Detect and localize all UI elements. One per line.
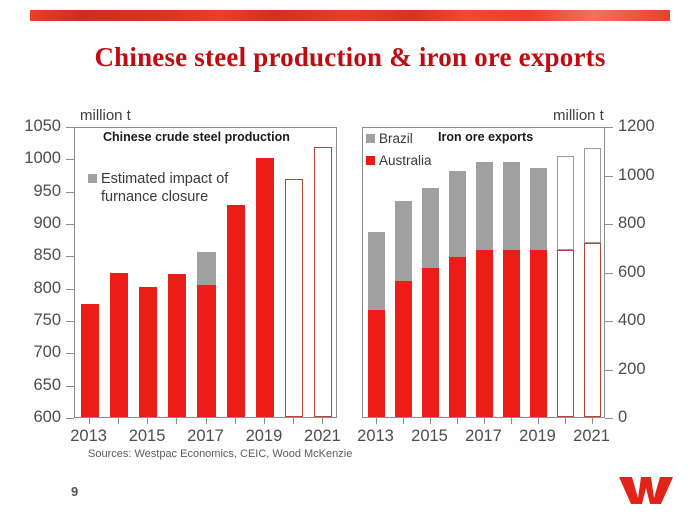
bar-steel-2018 [227,205,245,417]
xtick-label-steel-2019: 2019 [246,427,283,446]
bar-ore-2015 [422,188,439,417]
bar-ore-2018 [503,162,520,417]
ytick-label-ore-1200: 1200 [618,118,655,135]
ytick-mark-steel-1050 [66,127,74,128]
xtick-mark-ore-2019 [538,418,539,424]
bar-segment-australia-2019 [530,250,547,417]
bar-segment-brazil-2015 [422,188,439,268]
sources-note: Sources: Westpac Economics, CEIC, Wood M… [88,448,352,460]
left-chart-title: Chinese crude steel production [103,130,290,144]
page-number: 9 [71,484,78,499]
ytick-mark-steel-800 [66,289,74,290]
left-chart-legend: Estimated impact of furnance closure [88,170,228,206]
bar-steel-2015 [139,287,157,417]
xtick-mark-ore-2015 [430,418,431,424]
bar-segment-furnace-impact-2017 [197,252,215,285]
xtick-label-steel-2021: 2021 [304,427,341,446]
bar-steel-2016 [168,274,186,417]
ytick-mark-steel-1000 [66,159,74,160]
bar-segment-australia-2014 [395,281,412,417]
ytick-label-ore-1000: 1000 [618,167,655,184]
xtick-label-ore-2013: 2013 [357,427,394,446]
xtick-label-ore-2017: 2017 [465,427,502,446]
xtick-mark-steel-2017 [206,418,207,424]
legend-swatch-brazil-icon [366,134,375,143]
bar-segment-brazil-2017 [476,162,493,249]
ytick-label-steel-700: 700 [0,344,61,361]
xtick-mark-ore-2013 [376,418,377,424]
ytick-mark-ore-1200 [605,127,613,128]
bar-segment-australia-2016 [449,257,466,417]
ytick-mark-steel-900 [66,224,74,225]
ytick-label-steel-850: 850 [0,247,61,264]
bar-segment-australia-2017 [476,250,493,417]
ytick-mark-steel-750 [66,321,74,322]
ytick-mark-steel-700 [66,353,74,354]
legend-label-australia: Australia [379,153,432,168]
bar-segment-australia-2020 [557,250,574,417]
right-chart-legend-australia: Australia [366,153,432,168]
xtick-label-ore-2015: 2015 [411,427,448,446]
bar-ore-2013 [368,232,385,418]
ytick-label-steel-650: 650 [0,377,61,394]
xtick-mark-ore-2014 [403,418,404,424]
bar-segment-production-2013 [81,304,99,417]
bar-segment-brazil-2018 [503,162,520,250]
ytick-label-ore-400: 400 [618,312,646,329]
bar-steel-2017 [197,252,215,417]
bar-steel-2019 [256,158,274,417]
xtick-mark-steel-2013 [89,418,90,424]
bar-ore-2019 [530,168,547,417]
ytick-mark-ore-600 [605,273,613,274]
legend-label-brazil: Brazil [379,131,413,146]
ytick-label-steel-900: 900 [0,215,61,232]
bar-ore-2020 [557,156,574,417]
bar-segment-australia-2015 [422,268,439,417]
ytick-label-steel-750: 750 [0,312,61,329]
bar-segment-production-2016 [168,274,186,417]
bar-segment-production-2019 [256,158,274,417]
bar-ore-2021 [584,148,601,417]
ytick-mark-ore-800 [605,224,613,225]
ytick-label-ore-600: 600 [618,264,646,281]
bar-segment-australia-2021 [584,243,601,417]
xtick-mark-steel-2021 [322,418,323,424]
bar-steel-2014 [110,273,128,417]
xtick-mark-ore-2021 [592,418,593,424]
legend-label-estimated-impact-line1: Estimated impact of [101,171,228,187]
legend-swatch-gray-icon [88,174,97,183]
bar-segment-brazil-2016 [449,171,466,257]
bar-steel-2021 [314,147,332,417]
ytick-mark-ore-0 [605,418,613,419]
right-chart-legend-brazil: Brazil [366,131,413,146]
xtick-mark-ore-2020 [565,418,566,424]
ytick-mark-steel-650 [66,386,74,387]
bar-segment-brazil-2013 [368,232,385,311]
bar-segment-brazil-2020 [557,156,574,249]
xtick-label-steel-2013: 2013 [70,427,107,446]
bar-segment-production-2015 [139,287,157,417]
ytick-mark-ore-200 [605,370,613,371]
ytick-mark-steel-850 [66,256,74,257]
xtick-mark-steel-2018 [235,418,236,424]
ytick-label-ore-800: 800 [618,215,646,232]
bar-ore-2014 [395,201,412,417]
xtick-mark-steel-2016 [176,418,177,424]
xtick-mark-ore-2018 [511,418,512,424]
xtick-mark-steel-2020 [293,418,294,424]
ytick-label-steel-950: 950 [0,183,61,200]
left-chart-units-label: million t [80,107,131,124]
ytick-label-ore-0: 0 [618,409,627,426]
westpac-w-logo [617,473,675,507]
ytick-label-steel-1050: 1050 [0,118,61,135]
xtick-label-steel-2015: 2015 [129,427,166,446]
xtick-label-ore-2019: 2019 [519,427,556,446]
ytick-label-steel-800: 800 [0,280,61,297]
ytick-mark-steel-600 [66,418,74,419]
xtick-label-steel-2017: 2017 [187,427,224,446]
ytick-label-steel-1000: 1000 [0,150,61,167]
xtick-mark-steel-2014 [118,418,119,424]
bar-segment-production-2018 [227,205,245,417]
decorative-top-stripe [30,10,670,21]
ytick-label-steel-600: 600 [0,409,61,426]
legend-swatch-australia-icon [366,156,375,165]
bar-segment-australia-2018 [503,250,520,417]
chart-iron-ore-exports: Iron ore exports [362,127,605,418]
xtick-mark-steel-2019 [264,418,265,424]
xtick-mark-ore-2016 [457,418,458,424]
xtick-mark-ore-2017 [484,418,485,424]
ytick-mark-ore-400 [605,321,613,322]
right-chart-units-label: million t [553,107,604,124]
bar-steel-2020 [285,179,303,417]
bar-segment-production-2017 [197,285,215,417]
bar-segment-production-2020 [285,179,303,417]
ytick-mark-steel-950 [66,192,74,193]
xtick-label-ore-2021: 2021 [573,427,610,446]
bar-segment-production-2021 [314,147,332,417]
slide-canvas: Chinese steel production & iron ore expo… [0,0,700,525]
bar-segment-brazil-2021 [584,148,601,243]
bar-segment-brazil-2019 [530,168,547,250]
right-chart-title: Iron ore exports [438,130,533,144]
bar-ore-2017 [476,162,493,417]
bar-segment-brazil-2014 [395,201,412,281]
xtick-mark-steel-2015 [147,418,148,424]
page-title: Chinese steel production & iron ore expo… [0,42,700,73]
legend-label-estimated-impact-line2: furnance closure [101,188,228,206]
bar-segment-australia-2013 [368,310,385,417]
ytick-label-ore-200: 200 [618,361,646,378]
bar-steel-2013 [81,304,99,417]
ytick-mark-ore-1000 [605,176,613,177]
bar-segment-production-2014 [110,273,128,417]
bar-ore-2016 [449,171,466,417]
